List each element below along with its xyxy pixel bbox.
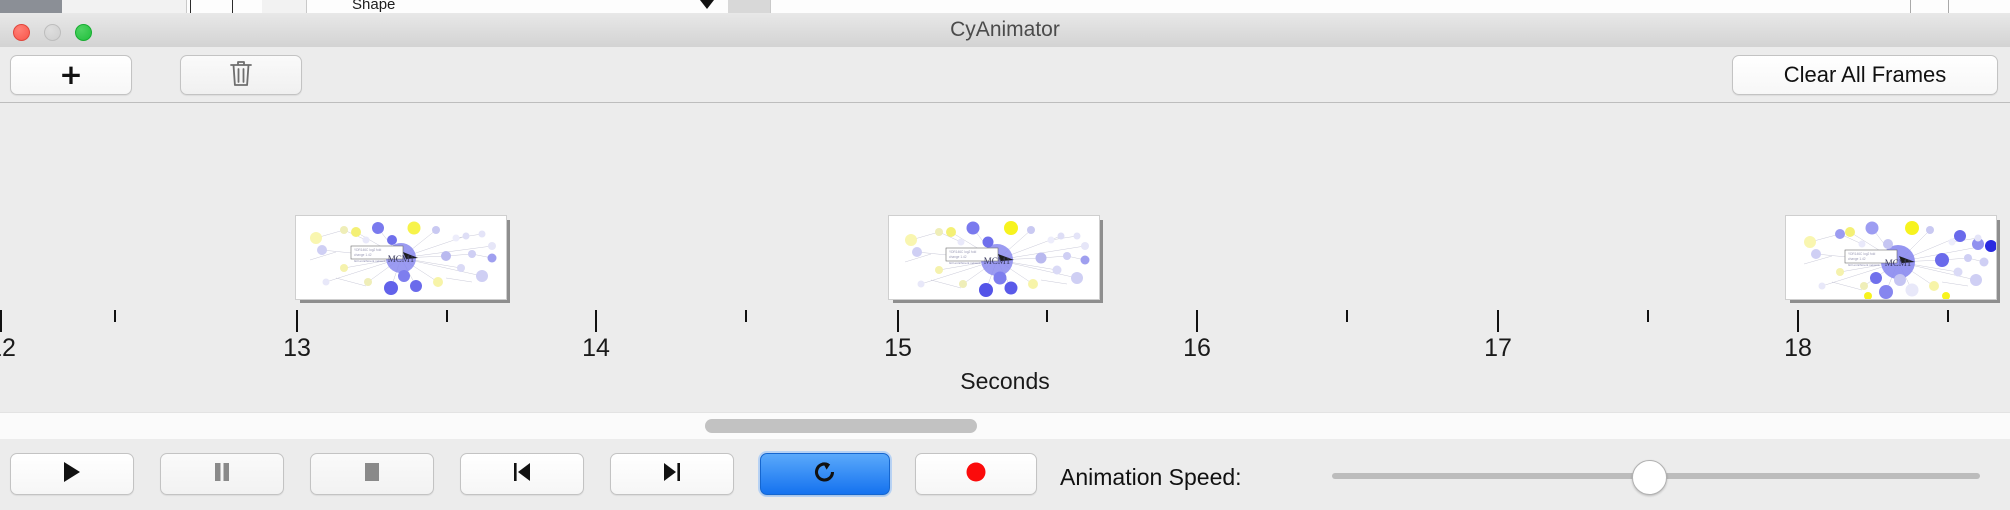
- axis-tick-label: 13: [283, 334, 311, 363]
- svg-text:GO enrichment network: GO enrichment network: [354, 259, 386, 263]
- svg-text:YDR146C log2 fold: YDR146C log2 fold: [1848, 252, 1876, 256]
- network-graph-thumbnail: GO enrichment network YDR146C log2 fold …: [888, 215, 1100, 300]
- axis-tick-label: 14: [582, 334, 610, 363]
- bg-strip-tick: [232, 0, 233, 13]
- svg-text:MCM1: MCM1: [1885, 258, 1912, 268]
- timeline-horizontal-scrollbar[interactable]: [0, 412, 2010, 440]
- play-icon: [61, 460, 83, 489]
- axis-tick-major: [1797, 310, 1799, 332]
- clear-all-frames-label: Clear All Frames: [1784, 62, 1947, 88]
- delete-frame-button[interactable]: [180, 55, 302, 95]
- stop-button[interactable]: [310, 453, 434, 495]
- bg-strip-tick: [190, 0, 191, 13]
- plus-icon: +: [59, 61, 82, 89]
- bg-window-label: Shape: [352, 0, 395, 13]
- axis-tick-major: [1497, 310, 1499, 332]
- bg-strip-tick: [1910, 0, 1911, 13]
- bg-strip-segment: [62, 0, 141, 13]
- axis-tick-label: 12: [0, 334, 16, 363]
- axis-tick-major: [897, 310, 899, 332]
- axis-tick-major: [296, 310, 298, 332]
- toolbar: + Clear All Frames: [0, 47, 2010, 103]
- bg-strip-dark-segment: [0, 0, 62, 13]
- title-bar: CyAnimator: [0, 13, 2010, 48]
- record-button[interactable]: [915, 453, 1037, 495]
- svg-text:change 1.42: change 1.42: [1848, 257, 1866, 261]
- pause-button[interactable]: [160, 453, 284, 495]
- svg-text:GO enrichment network: GO enrichment network: [949, 261, 981, 265]
- svg-text:change 1.42: change 1.42: [354, 253, 372, 257]
- trash-icon: [228, 58, 254, 93]
- axis-tick-label: 15: [884, 334, 912, 363]
- bg-strip-segment: [728, 0, 771, 13]
- axis-tick-label: 16: [1183, 334, 1211, 363]
- pause-icon: [211, 460, 233, 489]
- clear-all-frames-button[interactable]: Clear All Frames: [1732, 55, 1998, 95]
- svg-text:YDR146C log2 fold: YDR146C log2 fold: [354, 248, 382, 252]
- timeline-frames-panel[interactable]: GO enrichment network YDR146C log2 fold …: [0, 103, 2010, 312]
- network-graph-svg: GO enrichment network YDR146C log2 fold …: [1786, 216, 1996, 299]
- svg-text:MCM1: MCM1: [388, 254, 415, 264]
- bg-strip-wedge: [700, 0, 714, 9]
- bg-strip-segment: [262, 0, 307, 13]
- axis-tick-minor: [1046, 310, 1048, 322]
- loop-button[interactable]: [760, 453, 890, 495]
- bg-strip-segment: [140, 0, 187, 13]
- background-window-strip: Shape: [0, 0, 2010, 14]
- axis-tick-minor: [745, 310, 747, 322]
- window-title: CyAnimator: [0, 13, 2010, 47]
- svg-text:MCM1: MCM1: [984, 256, 1011, 266]
- bg-strip-tick: [1948, 0, 1949, 13]
- axis-tick-label: 17: [1484, 334, 1512, 363]
- network-graph-svg: GO enrichment network YDR146C log2 fold …: [889, 216, 1099, 299]
- axis-tick-minor: [114, 310, 116, 322]
- loop-icon: [812, 459, 838, 490]
- axis-tick-minor: [446, 310, 448, 322]
- timeline-axis: 12 13 14 15 16 17 18 Seconds: [0, 310, 2010, 412]
- animation-speed-label: Animation Speed:: [1060, 464, 1242, 491]
- skip-forward-icon: [660, 460, 684, 489]
- axis-tick-major: [1196, 310, 1198, 332]
- axis-tick-major: [595, 310, 597, 332]
- svg-text:change 1.42: change 1.42: [949, 255, 967, 259]
- add-frame-button[interactable]: +: [10, 55, 132, 95]
- timeline-frame-thumbnail[interactable]: GO enrichment network YDR146C log2 fold …: [888, 215, 1103, 303]
- timeline-frame-thumbnail[interactable]: GO enrichment network YDR146C log2 fold …: [295, 215, 510, 303]
- svg-text:YDR146C log2 fold: YDR146C log2 fold: [949, 250, 977, 254]
- animation-speed-slider-thumb[interactable]: [1632, 460, 1667, 495]
- axis-tick-label: 18: [1784, 334, 1812, 363]
- svg-text:GO enrichment network: GO enrichment network: [1848, 263, 1880, 267]
- play-button[interactable]: [10, 453, 134, 495]
- record-icon: [964, 460, 988, 489]
- scrollbar-thumb[interactable]: [705, 419, 977, 433]
- network-graph-thumbnail: GO enrichment network YDR146C log2 fold …: [1785, 215, 1997, 300]
- playback-controls-bar: Animation Speed:: [0, 439, 2010, 510]
- next-frame-button[interactable]: [610, 453, 734, 495]
- network-graph-svg: GO enrichment network YDR146C log2 fold …: [296, 216, 506, 299]
- skip-back-icon: [510, 460, 534, 489]
- axis-tick-minor: [1647, 310, 1649, 322]
- axis-tick-minor: [1947, 310, 1949, 322]
- network-graph-thumbnail: GO enrichment network YDR146C log2 fold …: [295, 215, 507, 300]
- axis-tick-major: [0, 310, 2, 332]
- timeline-frame-thumbnail[interactable]: GO enrichment network YDR146C log2 fold …: [1785, 215, 2000, 303]
- axis-title: Seconds: [0, 368, 2010, 395]
- stop-icon: [361, 460, 383, 489]
- axis-tick-minor: [1346, 310, 1348, 322]
- previous-frame-button[interactable]: [460, 453, 584, 495]
